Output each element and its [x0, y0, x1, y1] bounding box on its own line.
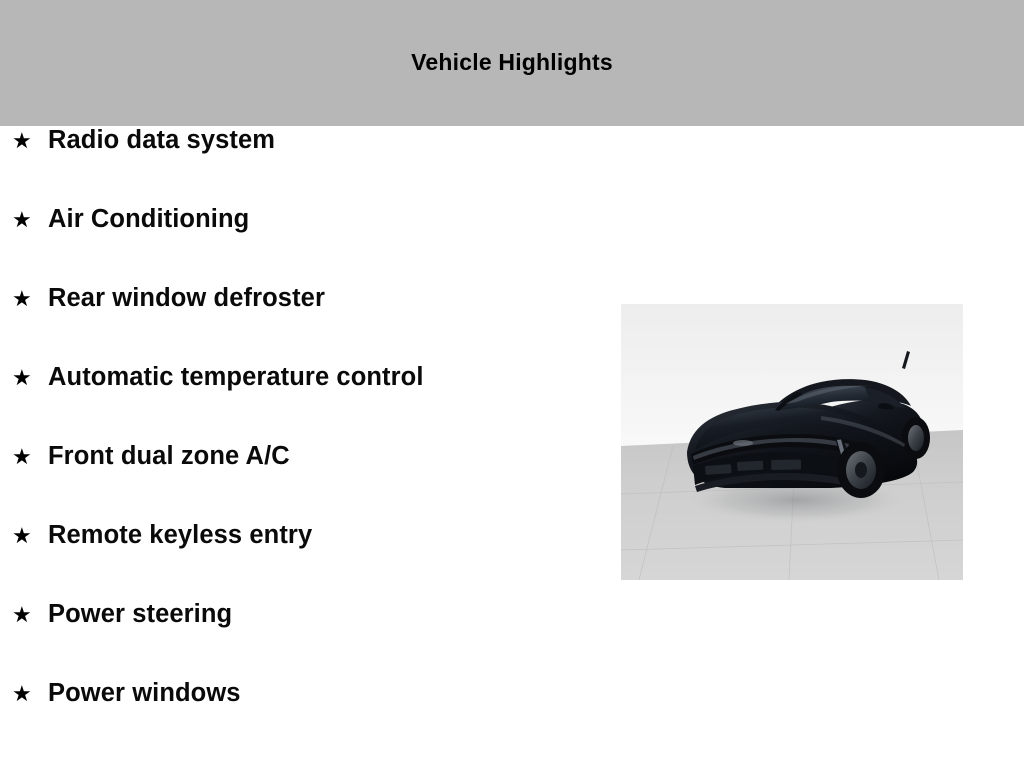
list-item-label: Automatic temperature control — [48, 363, 424, 392]
rear-wheel — [902, 417, 930, 459]
list-item-label: Remote keyless entry — [48, 521, 312, 550]
brand-badge — [733, 440, 753, 446]
list-item: ★ Radio data system — [0, 126, 610, 205]
front-wheel — [837, 442, 885, 498]
list-item: ★ Air Conditioning — [0, 205, 610, 284]
list-item: ★ Rear window defroster — [0, 284, 610, 363]
list-item-label: Front dual zone A/C — [48, 442, 290, 471]
star-bullet-icon: ★ — [12, 446, 48, 468]
vehicle-photo-image — [621, 304, 963, 580]
list-item: ★ Automatic temperature control — [0, 363, 610, 442]
page-title: Vehicle Highlights — [411, 49, 613, 76]
list-item-label: Power steering — [48, 600, 232, 629]
star-bullet-icon: ★ — [12, 209, 48, 231]
list-item: ★ Power steering — [0, 600, 610, 679]
star-bullet-icon: ★ — [12, 525, 48, 547]
vehicle-highlights-list: ★ Radio data system ★ Air Conditioning ★… — [0, 126, 610, 758]
list-item-label: Air Conditioning — [48, 205, 249, 234]
list-item-label: Radio data system — [48, 126, 275, 155]
list-item-label: Rear window defroster — [48, 284, 325, 313]
star-bullet-icon: ★ — [12, 683, 48, 705]
star-bullet-icon: ★ — [12, 288, 48, 310]
list-item: ★ Front dual zone A/C — [0, 442, 610, 521]
list-item: ★ Remote keyless entry — [0, 521, 610, 600]
list-item: ★ Power windows — [0, 679, 610, 758]
vehicle-photo — [621, 304, 963, 580]
star-bullet-icon: ★ — [12, 367, 48, 389]
header-bar: Vehicle Highlights — [0, 0, 1024, 126]
star-bullet-icon: ★ — [12, 130, 48, 152]
list-item-label: Power windows — [48, 679, 241, 708]
star-bullet-icon: ★ — [12, 604, 48, 626]
